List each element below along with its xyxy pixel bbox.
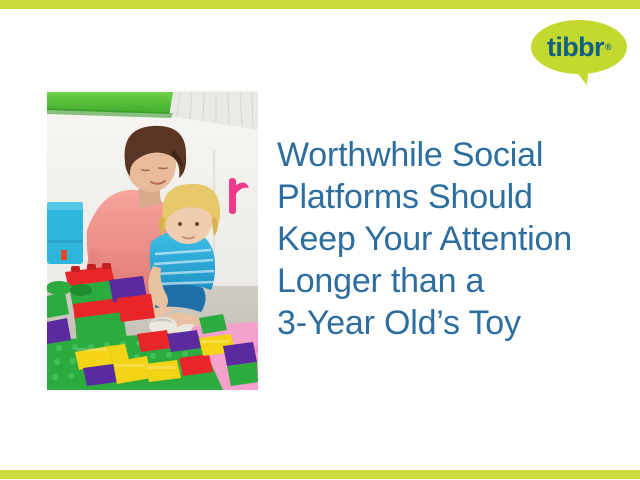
slide-canvas: tibbr® [0, 0, 640, 480]
logo-wordmark-text: tibbr [547, 34, 604, 61]
trademark-icon: ® [605, 43, 611, 52]
top-accent-bar [0, 0, 640, 9]
slide-headline: Worthwhile Social Platforms Should Keep … [277, 134, 627, 344]
headline-line-5: 3-Year Old’s Toy [277, 302, 627, 344]
headline-line-1: Worthwhile Social [277, 134, 627, 176]
headline-line-3: Keep Your Attention [277, 218, 627, 260]
bottom-accent-bar [0, 470, 640, 479]
hero-photo [47, 90, 258, 390]
headline-line-2: Platforms Should [277, 176, 627, 218]
tibbr-logo[interactable]: tibbr® [531, 20, 629, 92]
hero-photo-illustration [47, 90, 258, 390]
headline-line-4: Longer than a [277, 260, 627, 302]
logo-wordmark: tibbr® [531, 20, 627, 74]
